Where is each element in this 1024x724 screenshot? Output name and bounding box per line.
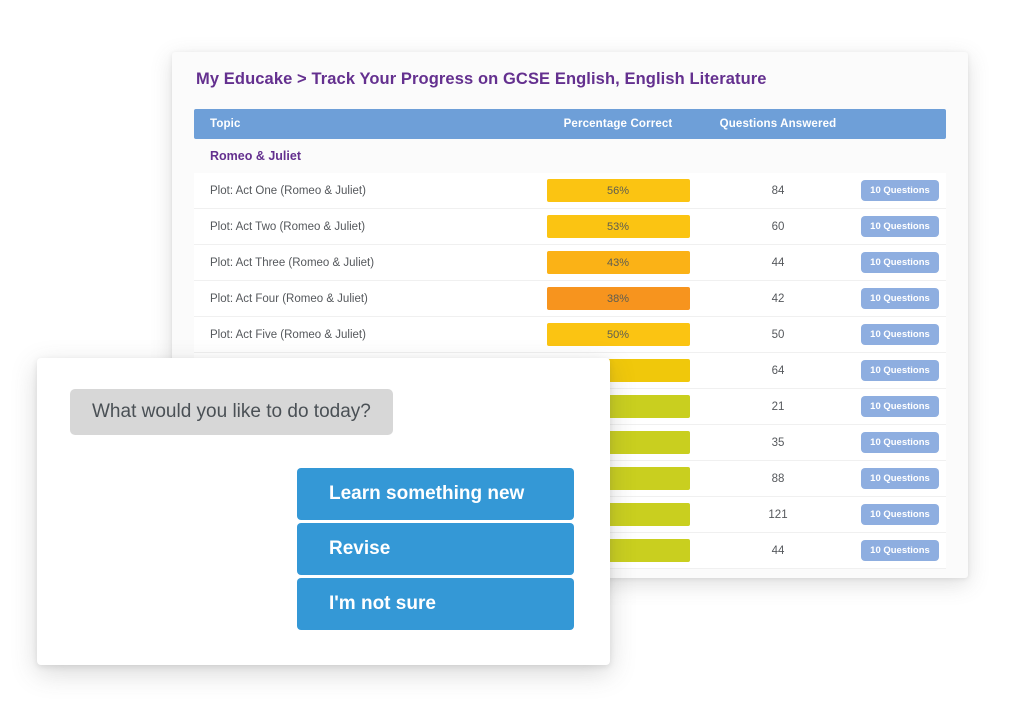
row-percentage-cell: 38% bbox=[534, 287, 702, 310]
row-action-cell: 10 Questions bbox=[854, 468, 946, 489]
ten-questions-button[interactable]: 10 Questions bbox=[861, 288, 939, 309]
table-header-row: Topic Percentage Correct Questions Answe… bbox=[194, 109, 946, 139]
column-header-questions: Questions Answered bbox=[702, 118, 854, 130]
section-header-romeo-and-juliet: Romeo & Juliet bbox=[194, 139, 946, 173]
row-percentage-cell: 56% bbox=[534, 179, 702, 202]
row-action-cell: 10 Questions bbox=[854, 360, 946, 381]
row-questions-answered: 44 bbox=[702, 257, 854, 269]
row-questions-answered: 50 bbox=[702, 329, 854, 341]
row-action-cell: 10 Questions bbox=[854, 288, 946, 309]
table-row: Plot: Act Four (Romeo & Juliet)38%4210 Q… bbox=[194, 281, 946, 317]
row-questions-answered: 42 bbox=[702, 293, 854, 305]
row-questions-answered: 60 bbox=[702, 221, 854, 233]
row-action-cell: 10 Questions bbox=[854, 180, 946, 201]
row-questions-answered: 121 bbox=[702, 509, 854, 521]
row-topic-label: Plot: Act Four (Romeo & Juliet) bbox=[194, 293, 534, 305]
row-percentage-cell: 50% bbox=[534, 323, 702, 346]
chat-question-bubble: What would you like to do today? bbox=[70, 389, 393, 435]
table-row: Plot: Act Five (Romeo & Juliet)50%5010 Q… bbox=[194, 317, 946, 353]
row-questions-answered: 84 bbox=[702, 185, 854, 197]
row-questions-answered: 35 bbox=[702, 437, 854, 449]
row-topic-label: Plot: Act Three (Romeo & Juliet) bbox=[194, 257, 534, 269]
row-questions-answered: 64 bbox=[702, 365, 854, 377]
row-action-cell: 10 Questions bbox=[854, 504, 946, 525]
ten-questions-button[interactable]: 10 Questions bbox=[861, 360, 939, 381]
table-row: Plot: Act Two (Romeo & Juliet)53%6010 Qu… bbox=[194, 209, 946, 245]
chat-option-button[interactable]: Learn something new bbox=[297, 468, 574, 520]
row-topic-label: Plot: Act One (Romeo & Juliet) bbox=[194, 185, 534, 197]
column-header-percentage: Percentage Correct bbox=[534, 118, 702, 130]
column-header-topic: Topic bbox=[194, 118, 534, 130]
row-action-cell: 10 Questions bbox=[854, 216, 946, 237]
ten-questions-button[interactable]: 10 Questions bbox=[861, 468, 939, 489]
percentage-bar: 53% bbox=[547, 215, 690, 238]
row-questions-answered: 44 bbox=[702, 545, 854, 557]
row-action-cell: 10 Questions bbox=[854, 252, 946, 273]
ten-questions-button[interactable]: 10 Questions bbox=[861, 504, 939, 525]
ten-questions-button[interactable]: 10 Questions bbox=[861, 180, 939, 201]
chat-card: What would you like to do today? Learn s… bbox=[37, 358, 610, 665]
row-topic-label: Plot: Act Five (Romeo & Juliet) bbox=[194, 329, 534, 341]
chat-option-button[interactable]: I'm not sure bbox=[297, 578, 574, 630]
row-action-cell: 10 Questions bbox=[854, 432, 946, 453]
page-title: My Educake > Track Your Progress on GCSE… bbox=[196, 70, 767, 89]
chat-option-button[interactable]: Revise bbox=[297, 523, 574, 575]
screenshot-root: My Educake > Track Your Progress on GCSE… bbox=[0, 0, 1024, 724]
ten-questions-button[interactable]: 10 Questions bbox=[861, 252, 939, 273]
row-action-cell: 10 Questions bbox=[854, 396, 946, 417]
percentage-bar: 56% bbox=[547, 179, 690, 202]
percentage-bar: 50% bbox=[547, 323, 690, 346]
ten-questions-button[interactable]: 10 Questions bbox=[861, 396, 939, 417]
row-percentage-cell: 53% bbox=[534, 215, 702, 238]
chat-options-list: Learn something newReviseI'm not sure bbox=[297, 468, 574, 630]
ten-questions-button[interactable]: 10 Questions bbox=[861, 540, 939, 561]
row-action-cell: 10 Questions bbox=[854, 540, 946, 561]
row-questions-answered: 21 bbox=[702, 401, 854, 413]
table-row: Plot: Act One (Romeo & Juliet)56%8410 Qu… bbox=[194, 173, 946, 209]
table-row: Plot: Act Three (Romeo & Juliet)43%4410 … bbox=[194, 245, 946, 281]
row-topic-label: Plot: Act Two (Romeo & Juliet) bbox=[194, 221, 534, 233]
percentage-bar: 38% bbox=[547, 287, 690, 310]
ten-questions-button[interactable]: 10 Questions bbox=[861, 324, 939, 345]
percentage-bar: 43% bbox=[547, 251, 690, 274]
row-percentage-cell: 43% bbox=[534, 251, 702, 274]
row-action-cell: 10 Questions bbox=[854, 324, 946, 345]
ten-questions-button[interactable]: 10 Questions bbox=[861, 432, 939, 453]
row-questions-answered: 88 bbox=[702, 473, 854, 485]
ten-questions-button[interactable]: 10 Questions bbox=[861, 216, 939, 237]
